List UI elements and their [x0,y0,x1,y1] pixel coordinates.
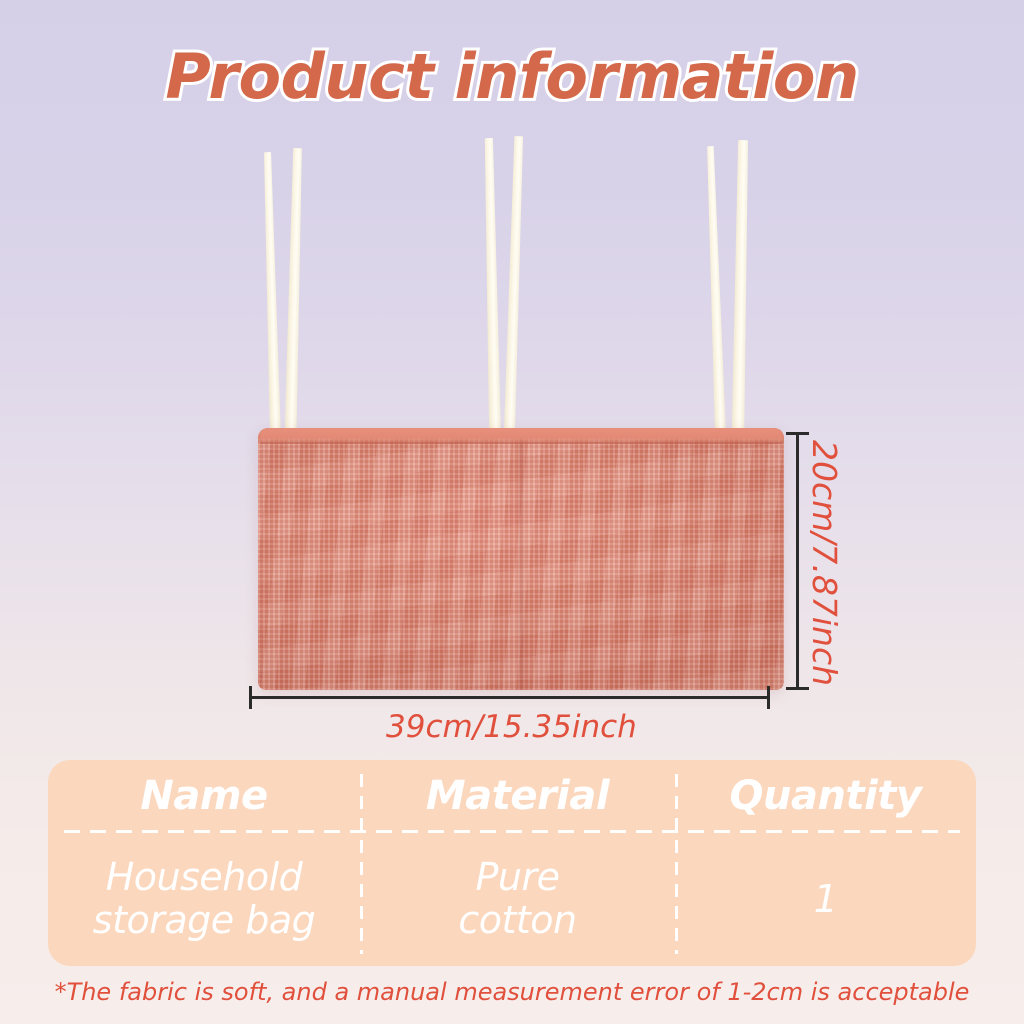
width-dim-cap-right [767,686,770,709]
table-divider-horizontal [64,830,960,833]
width-dim-label: 39cm/15.35inch [386,709,637,745]
height-dim-label: 20cm/7.87inch [805,440,844,686]
table-header-name: Name [48,760,360,832]
page-title: Product information [0,40,1024,113]
product-info-table: Name Material Quantity Household storage… [48,760,976,966]
table-header-material: Material [360,760,675,832]
strap-right-a [705,146,726,438]
table-cell-name-line1: Household [106,855,303,899]
measurement-disclaimer: *The fabric is soft, and a manual measur… [0,978,1024,1006]
height-dim-shaft [796,432,799,690]
table-divider-vertical-2 [675,774,678,954]
height-dim-cap-bottom [786,687,809,690]
table-cell-name: Household storage bag [48,832,360,966]
width-dim-shaft [249,696,770,699]
strap-left-b [284,148,303,438]
bag-hem-stitch-line [260,442,782,444]
table-cell-quantity: 1 [675,832,976,966]
strap-left-a [262,152,281,437]
product-info-page: Product information 20cm/7.87inch 39cm/1… [0,0,1024,1024]
strap-right-b [731,140,749,438]
table-cell-name-line2: storage bag [93,898,315,942]
table-cell-material: Pure cotton [360,832,675,966]
table-cell-material-line1: Pure [475,855,559,899]
storage-bag-body [258,428,784,690]
table-header-quantity: Quantity [675,760,976,832]
product-photo [240,130,800,700]
strap-middle-a [483,138,501,438]
table-cell-material-line2: cotton [458,898,576,942]
table-divider-vertical-1 [360,774,363,954]
strap-middle-b [503,136,524,438]
info-table-grid: Name Material Quantity Household storage… [48,760,976,966]
